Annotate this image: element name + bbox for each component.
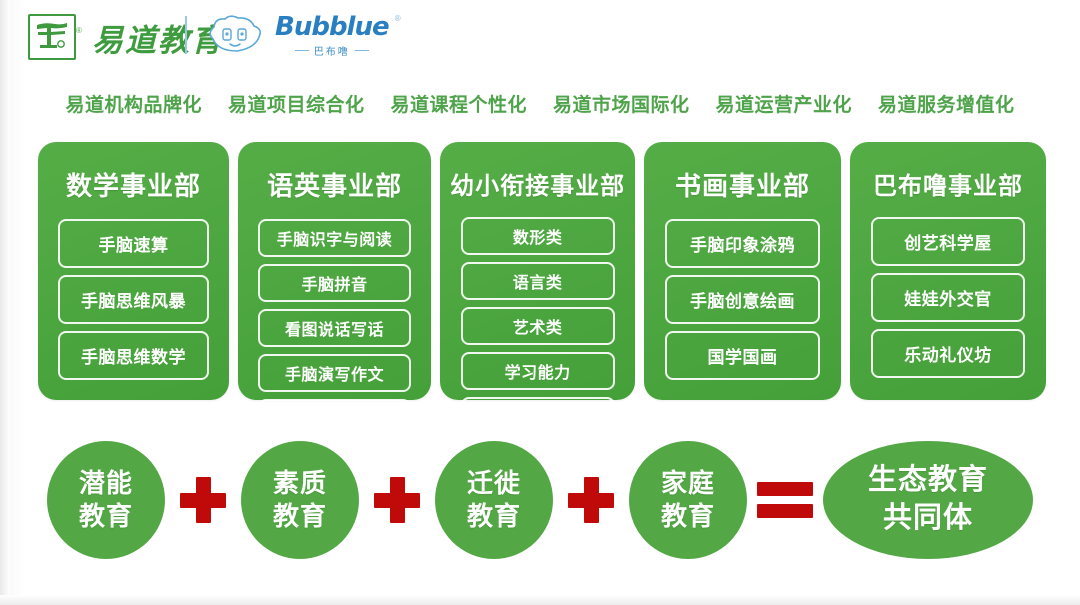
bubblue-wordmark-group: Bubblue ® 巴布噜 [275,12,389,58]
bubblue-logo: Bubblue ® 巴布噜 [205,12,389,58]
list-item[interactable]: 数形类 [461,217,615,255]
slogan-item-1: 易道机构品牌化 [65,90,202,117]
logo-bar: ® 易道教育 Bubblue ® 巴布噜 [0,0,1080,72]
list-item[interactable]: 手脑拼音 [258,264,410,302]
plus-operator-2 [359,477,435,523]
term-line-1: 潜能 [79,467,133,500]
slogan-item-2: 易道项目综合化 [228,90,365,117]
plus-icon [374,477,420,523]
list-item[interactable]: 手脑印象涂鸦 [665,219,821,268]
equation-term-quality[interactable]: 素质 教育 [241,441,359,559]
cloud-mascot-icon [205,13,267,57]
department-card-row: 数学事业部 手脑速算 手脑思维风暴 手脑思维数学 语英事业部 手脑识字与阅读 手… [38,142,1046,400]
logo-divider [185,16,187,54]
yidao-logo: ® 易道教育 [28,14,224,60]
term-line-1: 家庭 [661,467,715,500]
department-card-preschool-transition[interactable]: 幼小衔接事业部 数形类 语言类 艺术类 学习能力 生活习惯 [440,142,635,400]
plus-operator-1 [165,477,241,523]
card-item-list: 创艺科学屋 娃娃外交官 乐动礼仪坊 [860,217,1036,378]
slide-canvas: ® 易道教育 Bubblue ® 巴布噜 [0,0,1080,605]
list-item[interactable]: 看图说话写话 [258,309,410,347]
department-card-chinese-english[interactable]: 语英事业部 手脑识字与阅读 手脑拼音 看图说话写话 手脑演写作文 手脑说唱英语 [238,142,431,400]
list-item[interactable]: 生活习惯 [461,397,615,435]
card-title: 数学事业部 [66,166,201,203]
bubblue-cn-label: 巴布噜 [314,43,350,58]
card-title: 书画事业部 [675,166,810,203]
bubblue-wordmark: Bubblue [275,12,389,42]
list-item[interactable]: 创艺科学屋 [871,217,1026,266]
slogan-item-6: 易道服务增值化 [878,90,1015,117]
department-card-calligraphy-painting[interactable]: 书画事业部 手脑印象涂鸦 手脑创意绘画 国学国画 [644,142,841,400]
term-line-2: 教育 [467,500,521,533]
equation-result-ecosystem[interactable]: 生态教育 共同体 [823,441,1033,559]
department-card-bubblue[interactable]: 巴布噜事业部 创艺科学屋 娃娃外交官 乐动礼仪坊 [850,142,1046,400]
equals-operator [747,480,823,520]
card-item-list: 数形类 语言类 艺术类 学习能力 生活习惯 [450,217,625,435]
card-item-list: 手脑速算 手脑思维风暴 手脑思维数学 [48,219,219,380]
list-item[interactable]: 手脑思维数学 [58,331,209,380]
brush-stroke-logo-icon: ® [28,14,76,60]
term-line-2: 教育 [273,500,327,533]
plus-operator-3 [553,477,629,523]
registered-mark-yidao: ® [76,26,82,35]
equation-term-potential[interactable]: 潜能 教育 [47,441,165,559]
registered-mark-bubblue: ® [395,14,401,23]
equation-term-family[interactable]: 家庭 教育 [629,441,747,559]
card-title: 语英事业部 [267,166,402,203]
list-item[interactable]: 手脑思维风暴 [58,275,209,324]
plus-icon [180,477,226,523]
brush-stroke-svg [35,21,69,51]
list-item[interactable]: 手脑演写作文 [258,354,410,392]
term-line-2: 教育 [661,500,715,533]
department-card-math[interactable]: 数学事业部 手脑速算 手脑思维风暴 手脑思维数学 [38,142,229,400]
list-item[interactable]: 学习能力 [461,352,615,390]
result-line-2: 共同体 [883,500,973,538]
equation-row: 潜能 教育 素质 教育 迁徙 教育 家庭 教育 生态教育 共 [0,432,1080,567]
dash-left-icon [295,50,309,52]
card-item-list: 手脑印象涂鸦 手脑创意绘画 国学国画 [654,219,831,380]
term-line-2: 教育 [79,500,133,533]
card-title: 巴布噜事业部 [873,166,1023,201]
list-item[interactable]: 娃娃外交官 [871,273,1026,322]
list-item[interactable]: 国学国画 [665,331,821,380]
bottom-edge-shadow [0,595,1080,605]
plus-icon [568,477,614,523]
term-line-1: 迁徙 [467,467,521,500]
result-line-1: 生态教育 [868,462,988,500]
list-item[interactable]: 语言类 [461,262,615,300]
card-item-list: 手脑识字与阅读 手脑拼音 看图说话写话 手脑演写作文 手脑说唱英语 [248,219,421,437]
slogan-row: 易道机构品牌化 易道项目综合化 易道课程个性化 易道市场国际化 易道运营产业化 … [0,90,1080,117]
slogan-item-5: 易道运营产业化 [716,90,853,117]
term-line-1: 素质 [273,467,327,500]
list-item[interactable]: 手脑速算 [58,219,209,268]
slogan-item-4: 易道市场国际化 [553,90,690,117]
list-item[interactable]: 乐动礼仪坊 [871,329,1026,378]
dash-right-icon [355,50,369,52]
equation-term-migration[interactable]: 迁徙 教育 [435,441,553,559]
slogan-item-3: 易道课程个性化 [390,90,527,117]
card-title: 幼小衔接事业部 [450,166,625,201]
equals-icon [757,480,813,520]
list-item[interactable]: 手脑创意绘画 [665,275,821,324]
list-item[interactable]: 手脑识字与阅读 [258,219,410,257]
list-item[interactable]: 艺术类 [461,307,615,345]
bubblue-cn-row: 巴布噜 [275,43,389,58]
